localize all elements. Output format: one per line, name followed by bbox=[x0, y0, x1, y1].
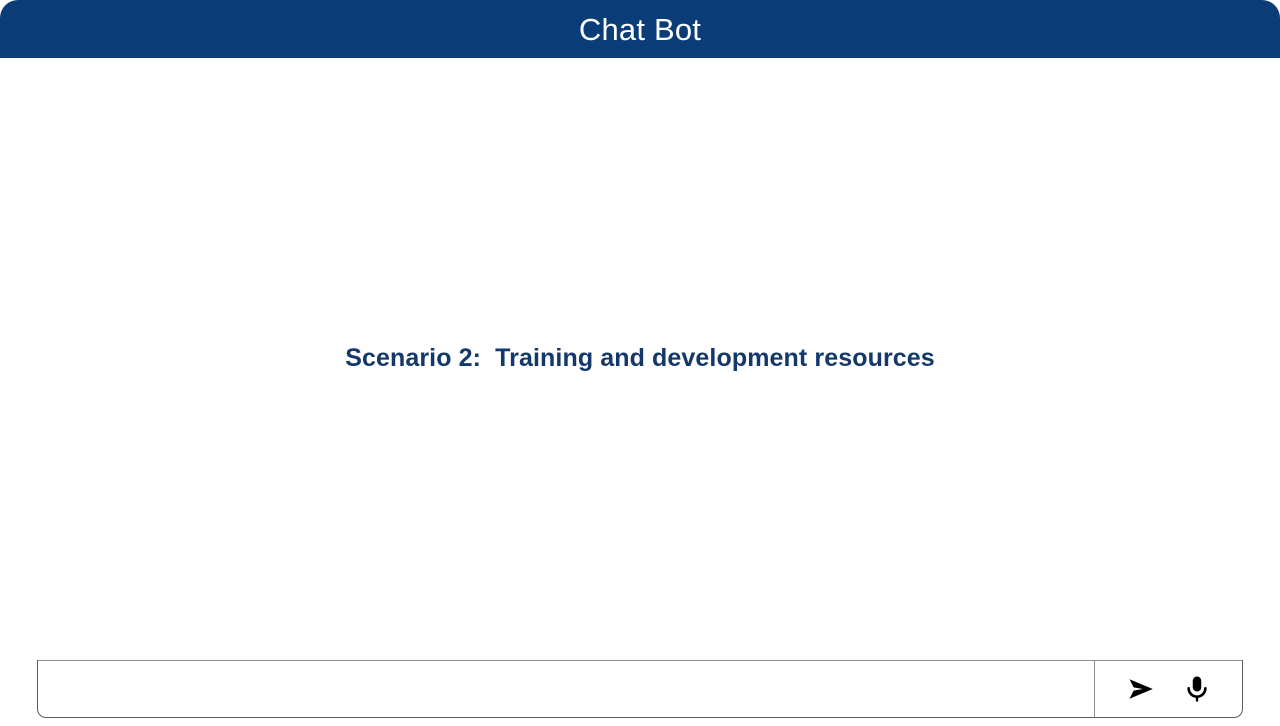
chat-bot-app: Chat Bot Scenario 2: Training and develo… bbox=[0, 0, 1280, 726]
send-button[interactable] bbox=[1124, 672, 1158, 706]
microphone-button[interactable] bbox=[1180, 672, 1214, 706]
microphone-icon bbox=[1182, 674, 1212, 704]
send-icon bbox=[1126, 674, 1156, 704]
composer bbox=[37, 660, 1243, 718]
message-input[interactable] bbox=[38, 661, 1094, 717]
app-header: Chat Bot bbox=[0, 0, 1280, 58]
chat-message-area: Scenario 2: Training and development res… bbox=[0, 62, 1280, 660]
composer-actions bbox=[1094, 661, 1242, 717]
scenario-heading: Scenario 2: Training and development res… bbox=[0, 344, 1280, 373]
composer-container bbox=[0, 660, 1280, 726]
page-title: Chat Bot bbox=[579, 14, 701, 45]
